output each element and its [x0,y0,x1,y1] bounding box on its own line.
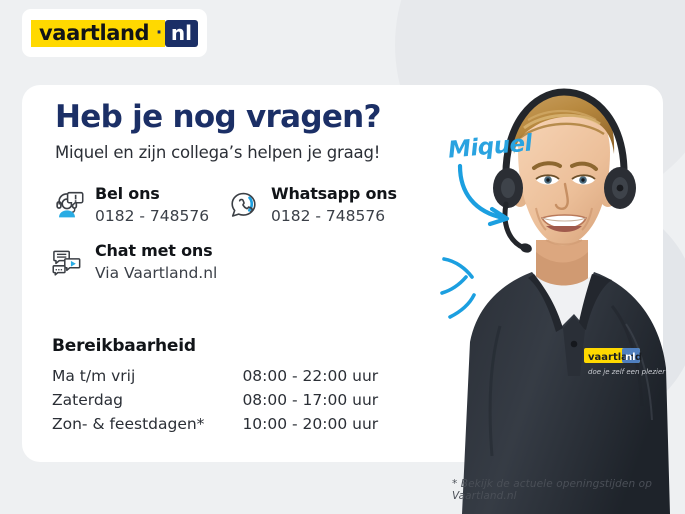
contact-whatsapp-title: Whatsapp ons [271,184,397,203]
contact-whatsapp-value: 0182 - 748576 [271,207,397,225]
page-title: Heb je nog vragen? [55,100,455,134]
chat-bubbles-icon [50,242,84,278]
opening-hours-body: Ma t/m vrij 08:00 - 22:00 uur Zaterdag 0… [52,367,378,439]
whatsapp-icon [226,185,260,221]
opening-hours-table: Ma t/m vrij 08:00 - 22:00 uur Zaterdag 0… [52,367,378,439]
contact-chat[interactable]: Chat met ons Via Vaartland.nl [50,242,470,282]
opening-hours-footnote: * Bekijk de actuele openingstijden op Va… [452,478,685,502]
hero-text-block: Heb je nog vragen? Miquel en zijn colleg… [55,100,455,162]
contact-call-text: Bel ons 0182 - 748576 [95,185,209,225]
svg-text:nl: nl [625,352,636,363]
hours-time: 10:00 - 20:00 uur [242,415,378,439]
logo-dot-separator: · [156,20,165,47]
opening-hours: Bereikbaarheid Ma t/m vrij 08:00 - 22:00… [52,336,378,439]
contact-whatsapp-text: Whatsapp ons 0182 - 748576 [271,185,397,225]
logo-wordmark: vaartland [31,20,156,47]
contact-methods: Bel ons 0182 - 748576 Whatsapp ons 0182 … [50,185,470,282]
agent-headset-icon [50,185,84,221]
hours-time: 08:00 - 17:00 uur [242,391,378,415]
contact-chat-text: Chat met ons Via Vaartland.nl [95,242,217,282]
logo-tld-badge: nl [165,20,198,47]
table-row: Ma t/m vrij 08:00 - 22:00 uur [52,367,378,391]
hours-time: 08:00 - 22:00 uur [242,367,378,391]
contact-call-value: 0182 - 748576 [95,207,209,225]
contact-chat-title: Chat met ons [95,241,212,260]
hours-day: Ma t/m vrij [52,367,242,391]
table-row: Zaterdag 08:00 - 17:00 uur [52,391,378,415]
pointer-arrow-icon [452,160,532,240]
table-row: Zon- & feestdagen* 10:00 - 20:00 uur [52,415,378,439]
logo-lockup: vaartland · nl [31,20,198,47]
speed-lines-icon [440,245,515,330]
hours-day: Zaterdag [52,391,242,415]
svg-text:doe je zelf een plezier: doe je zelf een plezier [588,368,666,376]
page-subtitle: Miquel en zijn collega’s helpen je graag… [55,143,455,162]
contact-call[interactable]: Bel ons 0182 - 748576 [50,185,226,225]
opening-hours-title: Bereikbaarheid [52,336,378,356]
vaartland-logo[interactable]: vaartland · nl [22,9,207,57]
contact-row-primary: Bel ons 0182 - 748576 Whatsapp ons 0182 … [50,185,470,225]
hours-day: Zon- & feestdagen* [52,415,242,439]
contact-whatsapp[interactable]: Whatsapp ons 0182 - 748576 [226,185,436,225]
contact-chat-value: Via Vaartland.nl [95,264,217,282]
contact-call-title: Bel ons [95,184,160,203]
